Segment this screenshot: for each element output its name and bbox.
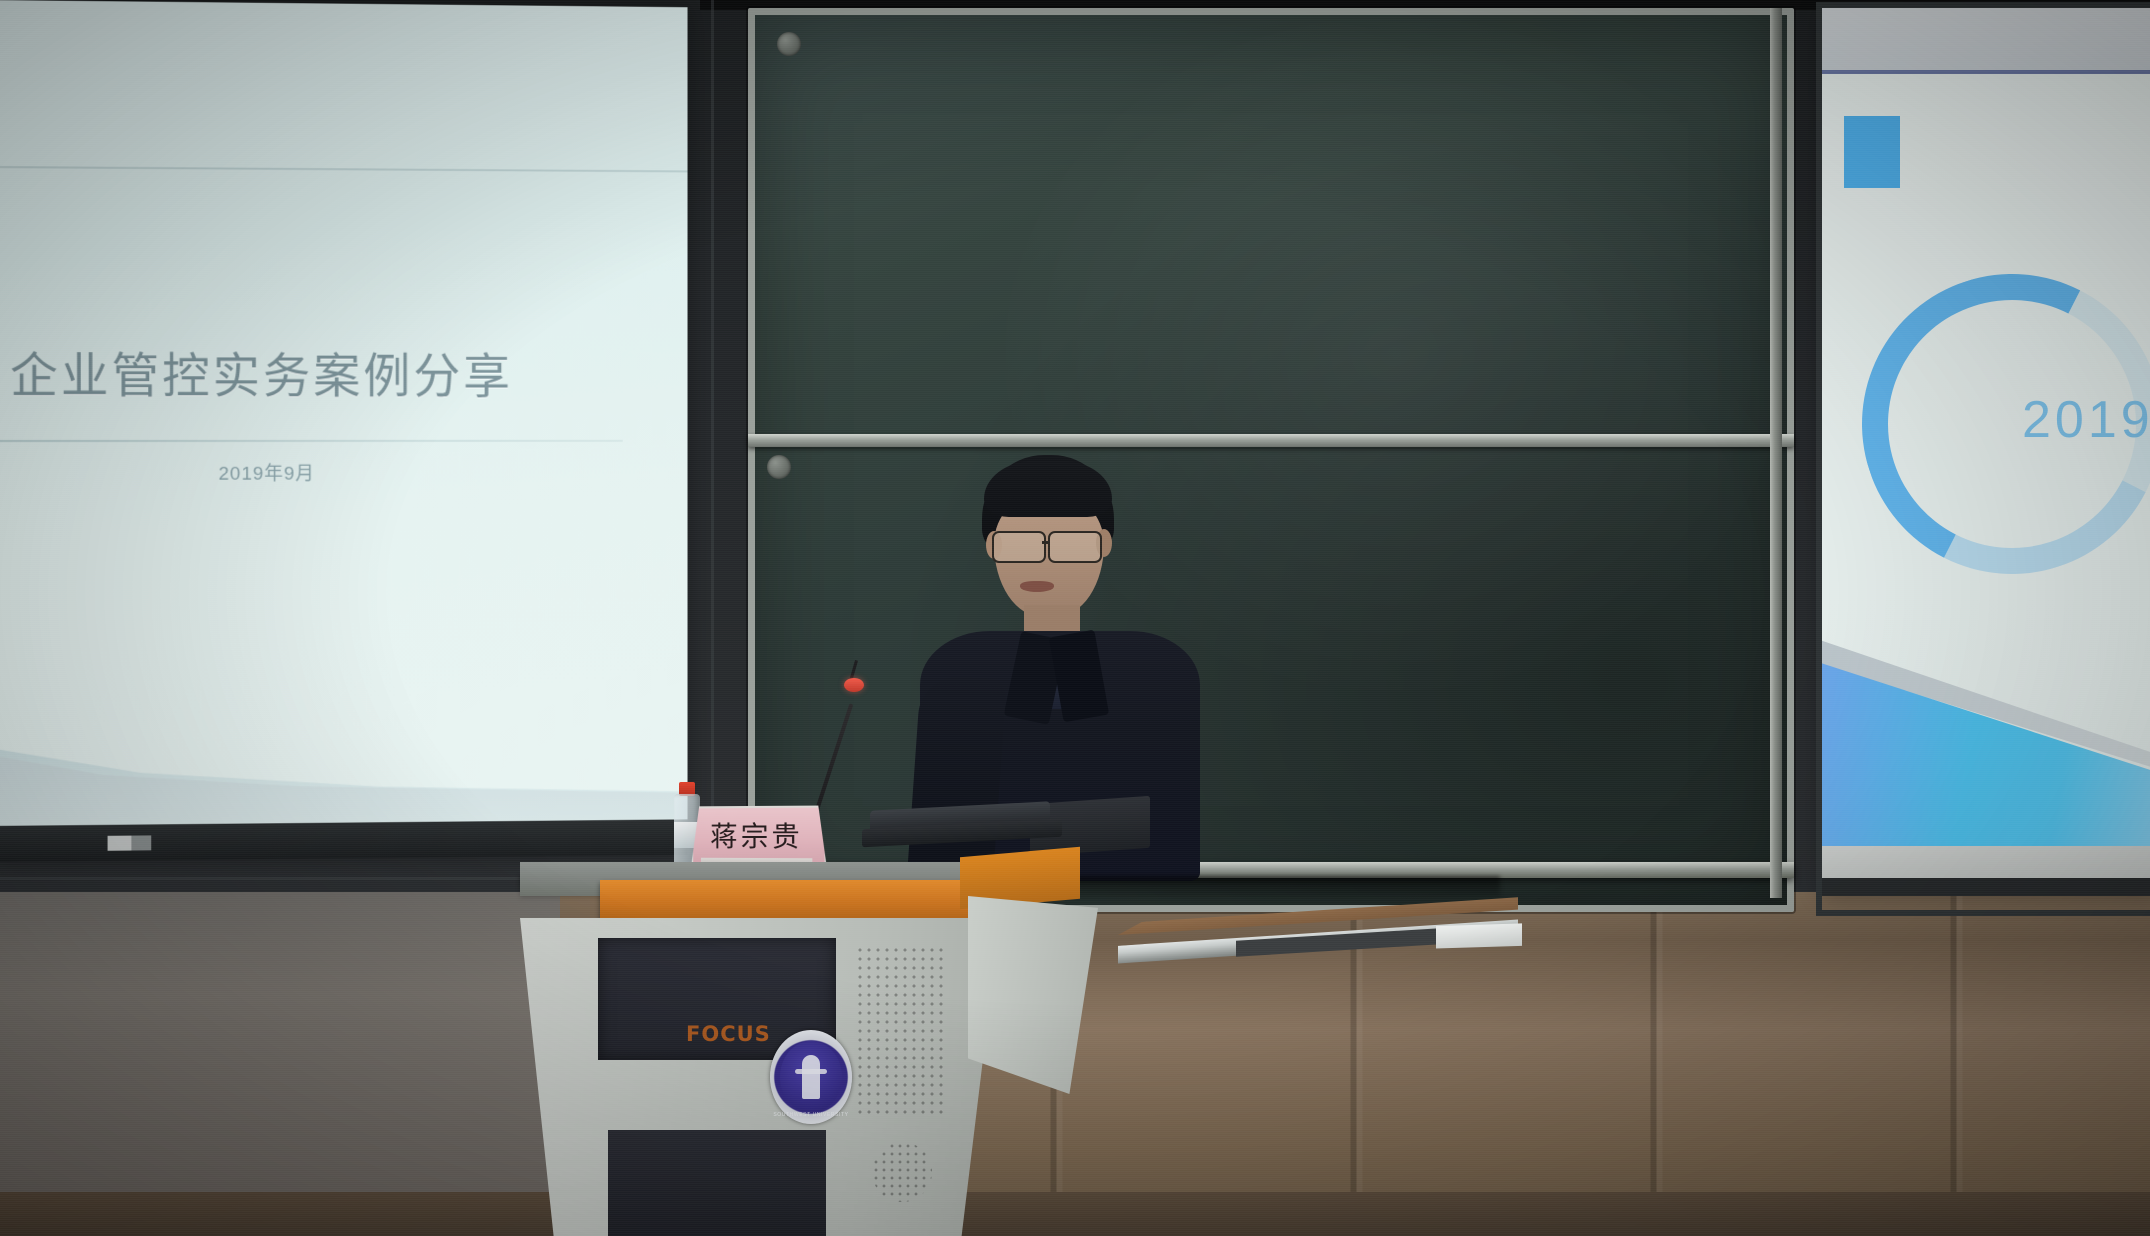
right-slide-top-band [1822,8,2150,70]
screen-bottom-bar [0,819,688,862]
lecture-hall-scene: 企业管控实务案例分享 2019年9月 2019 [0,0,2150,1236]
blackboard-vertical-divider [1770,8,1782,898]
right-slide-year: 2019 [2022,390,2150,450]
podium-front-panel: FOCUS SOUTHWEST UNIVERSITY [598,938,836,1060]
blue-accent-square-icon [1844,116,1900,188]
speaker-mouth [1020,581,1054,592]
blackboard-knob [767,455,791,479]
lectern-podium: FOCUS SOUTHWEST UNIVERSITY [520,862,1290,1236]
emblem-text: SOUTHWEST UNIVERSITY [770,1112,852,1118]
emblem-inner-disc [780,1041,842,1113]
emblem-mark [802,1055,820,1099]
right-projection-screen: 2019 [1822,8,2150,896]
nameplate-text: 蒋宗贵 [691,815,822,856]
left-projection-screen: 企业管控实务案例分享 2019年9月 [0,0,688,862]
right-slide-top-rule [1822,70,2150,74]
projector-brand-logo-icon [108,835,152,850]
eyeglasses-icon [986,531,1114,561]
eyeglass-lens-left [992,531,1046,563]
slide-divider [0,440,623,442]
podium-brand-label: FOCUS [686,1022,771,1046]
blackboard-knob [777,32,801,56]
speaker-arm-left [907,674,1007,880]
blackboard [748,8,1794,912]
eyeglass-lens-right [1048,531,1102,563]
podium-side-wing [968,896,1098,1094]
left-wall-panel [0,892,560,1236]
slide-wave-front [0,693,688,828]
emblem-mark-cross [795,1069,827,1074]
right-screen-bottom-bar [1822,878,2150,896]
southwest-university-emblem-icon: SOUTHWEST UNIVERSITY [770,1030,852,1124]
podium-lower-front [608,1130,826,1236]
speaker-hair-front [984,461,1112,517]
laptop-computer[interactable] [870,806,1050,846]
podium-round-speaker [872,1142,932,1202]
nameplate: 蒋宗贵 [691,806,822,869]
right-slide-bottom-grey [1822,846,2150,880]
slide-top-rule [0,166,688,172]
microphone-indicator-light [844,678,864,692]
blackboard-middle-rail [748,434,1794,447]
slide-title: 企业管控实务案例分享 [10,336,513,406]
podium-speaker-grill [856,946,944,1114]
slide-date: 2019年9月 [219,459,315,486]
